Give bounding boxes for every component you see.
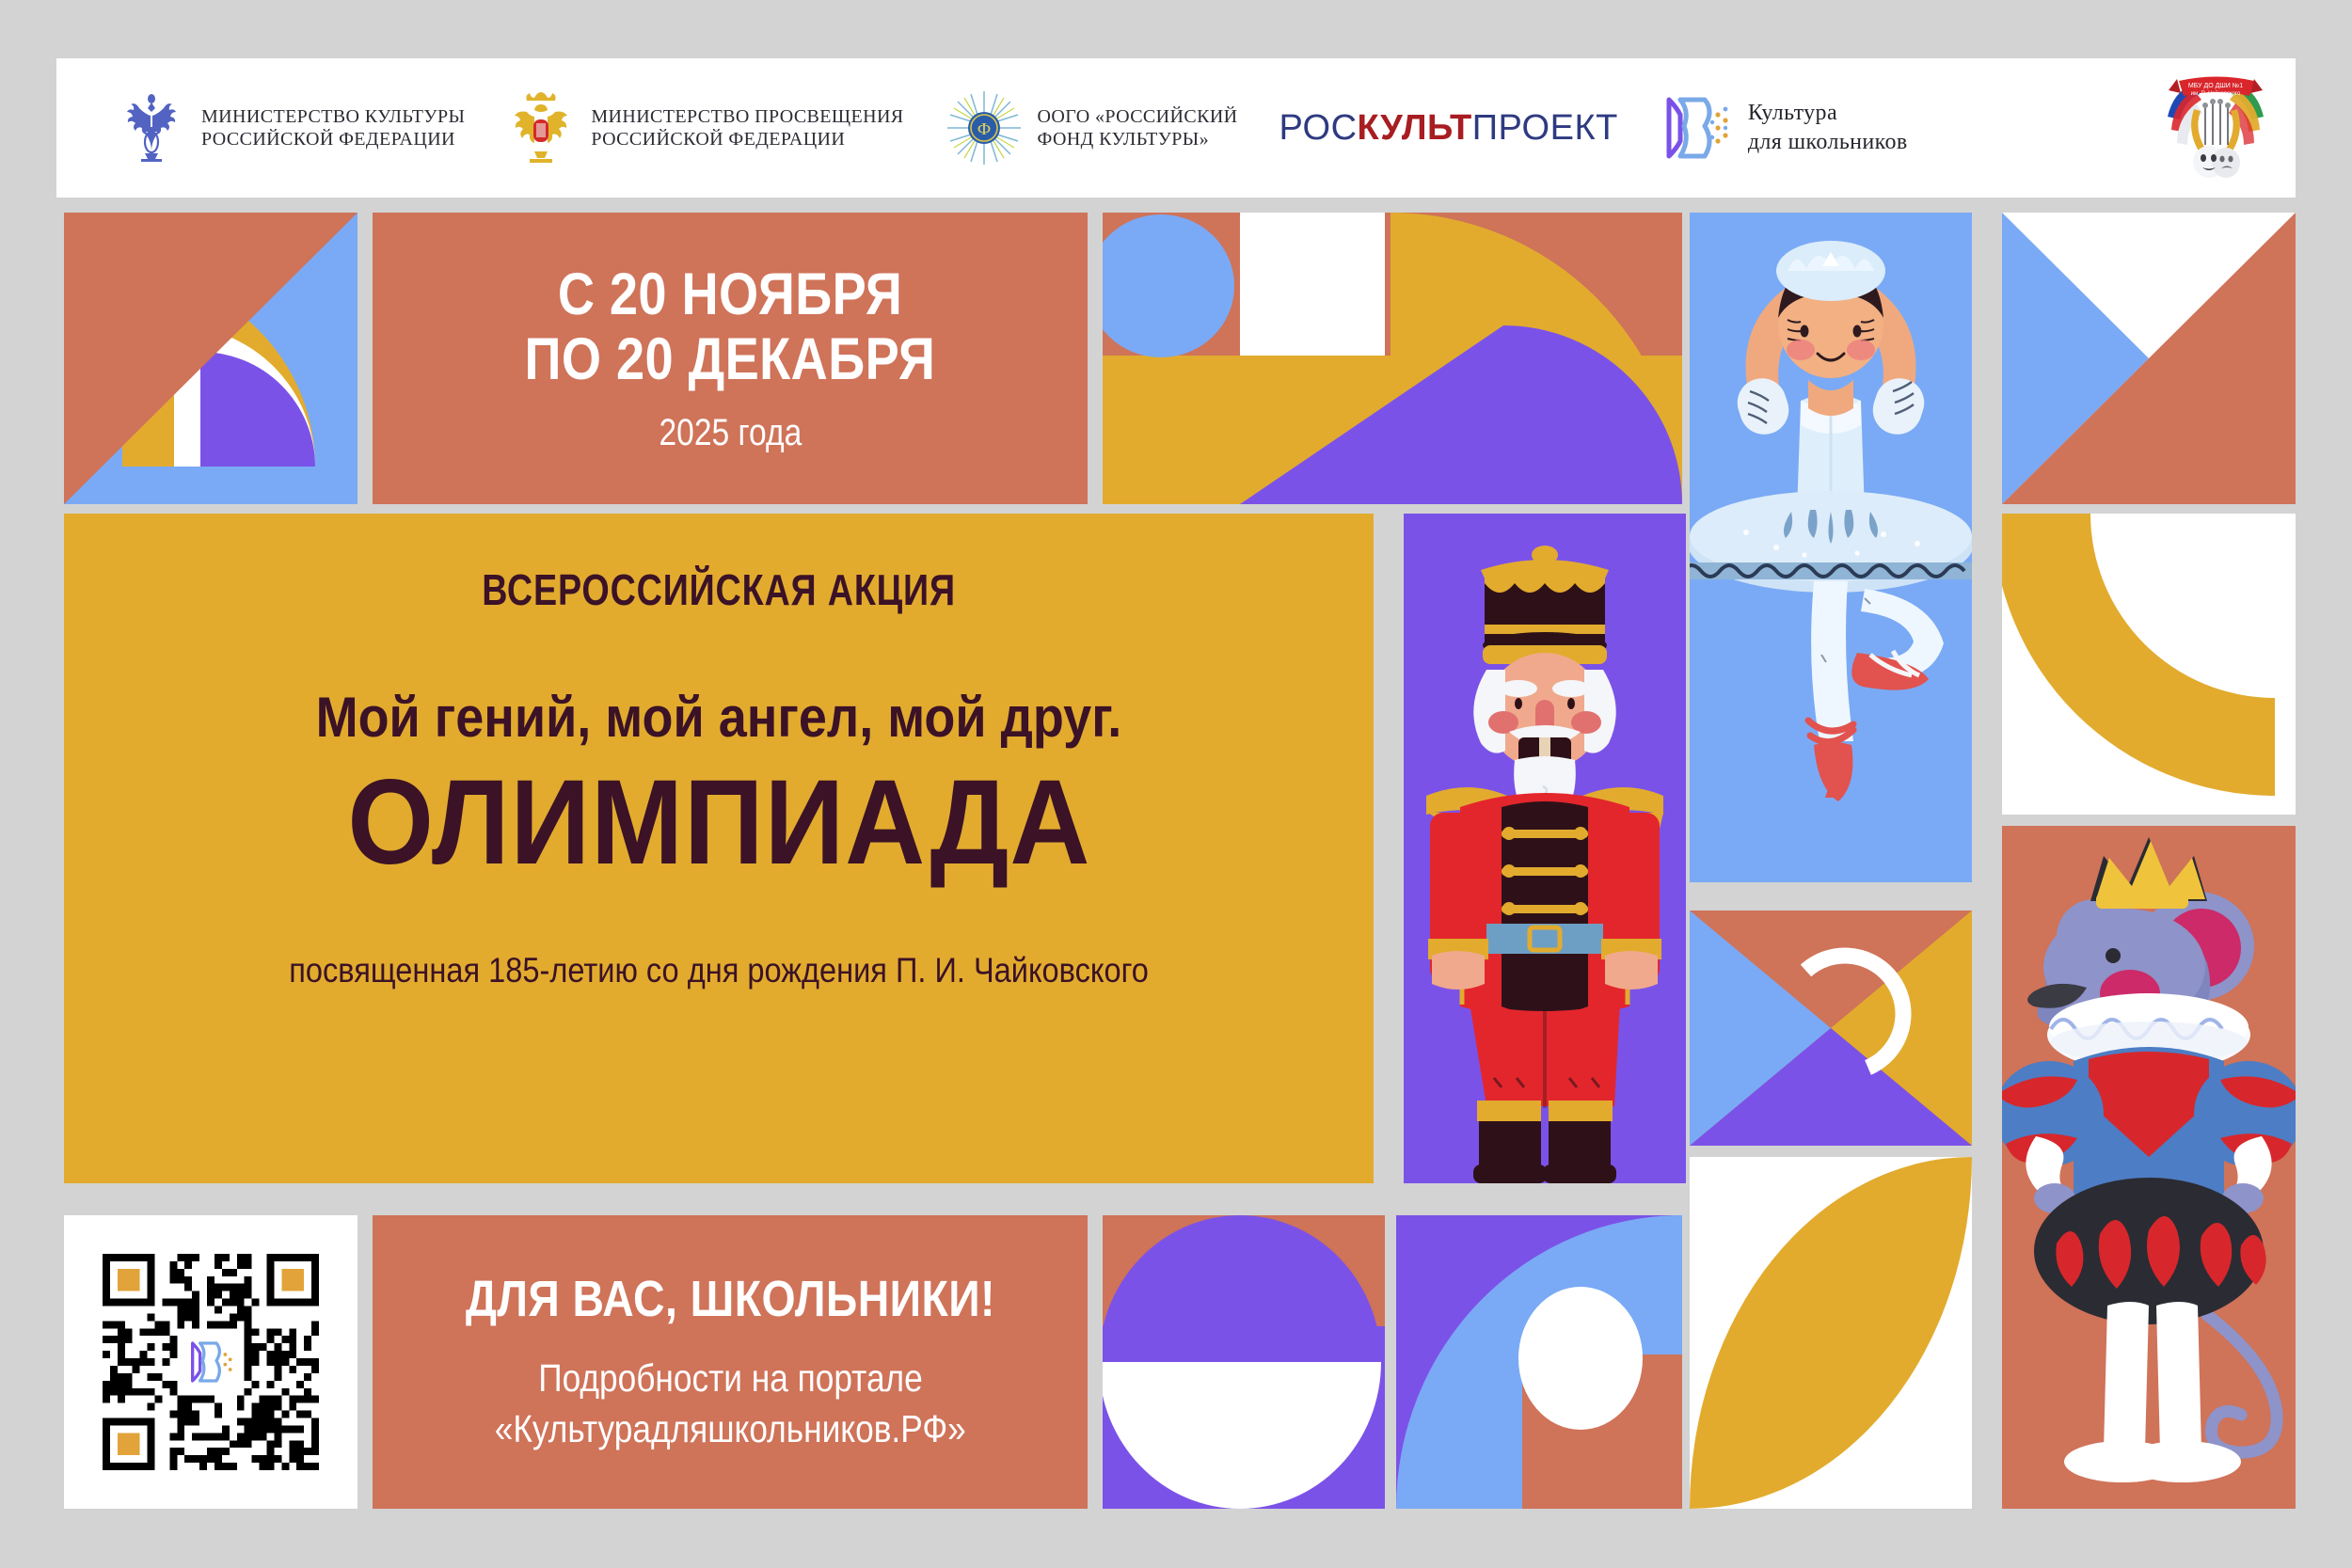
logo-line-1: МИНИСТЕРСТВО КУЛЬТУРЫ (201, 106, 465, 127)
illustration-mouse-king (2002, 826, 2296, 1509)
logo-ministry-of-education-text: МИНИСТЕРСТВО ПРОСВЕЩЕНИЯ РОССИЙСКОЙ ФЕДЕ… (591, 105, 903, 151)
qr-code[interactable] (103, 1254, 319, 1470)
lyre-masks-crest-icon: МБУ ДО ДШИ №1 им. П. Чайковского (2160, 75, 2271, 181)
logo-russian-culture-foundation: Ф ООГО «РОССИЙСКИЙ ФОНД КУЛЬТУРЫ» (946, 89, 1238, 166)
logo-ministry-of-education: МИНИСТЕРСТВО ПРОСВЕЩЕНИЯ РОССИЙСКОЙ ФЕДЕ… (506, 89, 903, 166)
decor-mid-right (2002, 514, 2296, 815)
russian-eagle-blue-icon (117, 89, 186, 166)
logo-music-school: МБУ ДО ДШИ №1 им. П. Чайковского (2160, 75, 2271, 181)
date-line-2: ПО 20 ДЕКАБРЯ (525, 327, 936, 391)
poster-canvas: МИНИСТЕРСТВО КУЛЬТУРЫ РОССИЙСКОЙ ФЕДЕРАЦ… (0, 0, 2352, 1568)
decor-bottom-center (1396, 1215, 1682, 1509)
decor-bottom-right (1690, 1157, 1972, 1509)
cta-portal-name: «Культурадляшкольников.РФ» (494, 1403, 965, 1454)
cta-line-1: Подробности на портале (538, 1353, 922, 1403)
logo-line-1: Культура (1748, 101, 1837, 125)
illustration-ballerina (1690, 213, 1972, 882)
decor-bottom-left (1103, 1215, 1385, 1509)
logo-culture-for-schoolchildren-text: Культура для школьников (1748, 99, 1908, 157)
logo-line-2: для школьников (1748, 130, 1908, 154)
crest-banner-line-1: МБУ ДО ДШИ №1 (2188, 83, 2243, 89)
qr-code-block[interactable] (64, 1215, 358, 1509)
kbook-logo-icon (1660, 94, 1733, 162)
subtitle-text: посвященная 185-летию со дня рождения П.… (289, 951, 1149, 990)
logo-ministry-of-culture-text: МИНИСТЕРСТВО КУЛЬТУРЫ РОССИЙСКОЙ ФЕДЕРАЦ… (201, 105, 465, 151)
date-line-1: С 20 НОЯБРЯ (558, 262, 902, 326)
logo-line-2: РОССИЙСКОЙ ФЕДЕРАЦИИ (591, 129, 845, 150)
rkp-part-1: РОС (1279, 108, 1358, 148)
logo-line-1: МИНИСТЕРСТВО ПРОСВЕЩЕНИЯ (591, 106, 903, 127)
partner-logo-bar: МИНИСТЕРСТВО КУЛЬТУРЫ РОССИЙСКОЙ ФЕДЕРАЦ… (56, 58, 2296, 198)
decor-top-right (2002, 213, 2296, 504)
cta-title: ДЛЯ ВАС, ШКОЛЬНИКИ! (465, 1270, 994, 1328)
logo-line-2: ФОНД КУЛЬТУРЫ» (1038, 129, 1210, 150)
illustration-nutcracker (1404, 514, 1686, 1183)
logo-culture-for-schoolchildren: Культура для школьников (1660, 94, 1908, 162)
russian-eagle-gold-icon (506, 89, 576, 166)
rkp-part-2: КУЛЬТ (1358, 108, 1472, 148)
logo-roskultproekt: РОСКУЛЬТПРОЕКТ (1279, 108, 1618, 149)
logo-ministry-of-culture: МИНИСТЕРСТВО КУЛЬТУРЫ РОССИЙСКОЙ ФЕДЕРАЦ… (117, 89, 465, 166)
headline-quote: Мой гений, мой ангел, мой друг. (316, 685, 1122, 750)
main-title-block: ВСЕРОССИЙСКАЯ АКЦИЯ Мой гений, мой ангел… (64, 514, 1374, 1183)
logo-russian-culture-foundation-text: ООГО «РОССИЙСКИЙ ФОНД КУЛЬТУРЫ» (1038, 105, 1238, 151)
rkp-part-3: ПРОЕКТ (1472, 108, 1618, 148)
crest-banner-line-2: им. П. Чайковского (2191, 90, 2241, 97)
decor-top-center (1103, 213, 1682, 504)
roskultproekt-wordmark: РОСКУЛЬТПРОЕКТ (1279, 108, 1618, 149)
starburst-medallion-icon: Ф (946, 89, 1023, 166)
decor-top-left (64, 213, 358, 504)
logo-line-1: ООГО «РОССИЙСКИЙ (1038, 106, 1238, 127)
headline-olympiad: ОЛИМПИАДА (347, 763, 1090, 883)
date-block: С 20 НОЯБРЯ ПО 20 ДЕКАБРЯ 2025 года (373, 213, 1088, 504)
cta-block: ДЛЯ ВАС, ШКОЛЬНИКИ! Подробности на порта… (373, 1215, 1088, 1509)
svg-text:Ф: Ф (977, 119, 990, 138)
eyebrow-text: ВСЕРОССИЙСКАЯ АКЦИЯ (482, 564, 956, 615)
decor-mid-center (1690, 911, 1972, 1146)
logo-line-2: РОССИЙСКОЙ ФЕДЕРАЦИИ (201, 129, 455, 150)
qr-center-logo (182, 1333, 240, 1391)
date-year: 2025 года (659, 412, 802, 454)
